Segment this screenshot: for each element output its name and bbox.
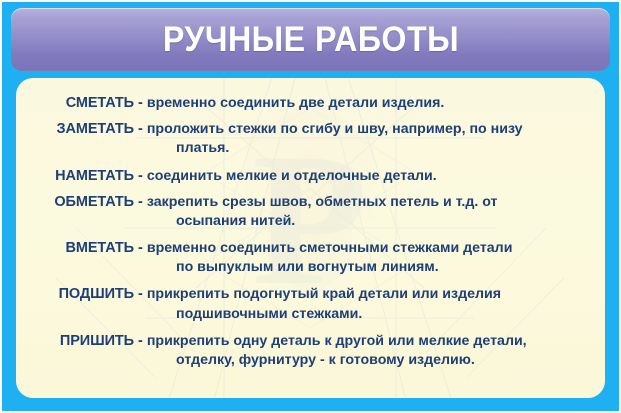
poster-root: РУЧНЫЕ РАБОТЫ Р — [0, 0, 621, 413]
entry-first-line: ЗАМЕТАТЬ-проложить стежки по сгибу и шву… — [16, 120, 589, 138]
separator-dash: - — [134, 333, 147, 349]
term-label: ВМЕТАТЬ — [16, 240, 134, 256]
entry-first-line: ПОДШИТЬ-прикрепить подогнутый край детал… — [16, 285, 589, 303]
definition-continuation: подшивочными стежками. — [176, 305, 589, 323]
entry-first-line: НАМЕТАТЬ-соединить мелкие и отделочные д… — [16, 167, 589, 185]
terms-list: СМЕТАТЬ-временно соединить две детали из… — [16, 78, 605, 369]
list-item: НАМЕТАТЬ-соединить мелкие и отделочные д… — [16, 167, 589, 185]
definition-text: временно соединить сметочными стежками д… — [147, 240, 513, 256]
entry-first-line: ПРИШИТЬ-прикрепить одну деталь к другой … — [16, 332, 589, 350]
list-item: СМЕТАТЬ-временно соединить две детали из… — [16, 94, 589, 112]
list-item: ОБМЕТАТЬ-закрепить срезы швов, обметных … — [16, 193, 589, 230]
term-label: ОБМЕТАТЬ — [16, 194, 134, 210]
term-label: ПОДШИТЬ — [16, 286, 134, 302]
term-label: ЗАМЕТАТЬ — [16, 121, 134, 137]
entry-first-line: ОБМЕТАТЬ-закрепить срезы швов, обметных … — [16, 193, 589, 211]
definition-text: проложить стежки по сгибу и шву, наприме… — [147, 121, 523, 137]
list-item: ПОДШИТЬ-прикрепить подогнутый край детал… — [16, 285, 589, 322]
list-item: ВМЕТАТЬ-временно соединить сметочными ст… — [16, 239, 589, 276]
definition-continuation: по выпуклым или вогнутым линиям. — [176, 258, 589, 276]
definition-continuation: платья. — [176, 139, 589, 157]
definition-text: прикрепить подогнутый край детали или из… — [147, 286, 501, 302]
term-label: СМЕТАТЬ — [16, 95, 134, 111]
header-bar: РУЧНЫЕ РАБОТЫ — [11, 8, 610, 71]
definition-text: прикрепить одну деталь к другой или мелк… — [147, 333, 527, 349]
definition-text: закрепить срезы швов, обметных петель и … — [147, 194, 498, 210]
definition-text: временно соединить две детали изделия. — [147, 95, 445, 111]
page-title: РУЧНЫЕ РАБОТЫ — [162, 22, 458, 57]
separator-dash: - — [134, 121, 147, 137]
entry-first-line: ВМЕТАТЬ-временно соединить сметочными ст… — [16, 239, 589, 257]
entry-first-line: СМЕТАТЬ-временно соединить две детали из… — [16, 94, 589, 112]
definition-continuation: осыпания нитей. — [176, 212, 589, 230]
separator-dash: - — [134, 194, 147, 210]
separator-dash: - — [134, 168, 147, 184]
content-panel: Р СМЕТАТЬ-временно соединить две детали … — [16, 78, 605, 398]
separator-dash: - — [134, 95, 147, 111]
list-item: ПРИШИТЬ-прикрепить одну деталь к другой … — [16, 332, 589, 369]
definition-text: соединить мелкие и отделочные детали. — [147, 168, 437, 184]
separator-dash: - — [134, 240, 147, 256]
term-label: НАМЕТАТЬ — [16, 168, 134, 184]
term-label: ПРИШИТЬ — [16, 333, 134, 349]
list-item: ЗАМЕТАТЬ-проложить стежки по сгибу и шву… — [16, 120, 589, 157]
definition-continuation: отделку, фурнитуру - к готовому изделию. — [176, 351, 589, 369]
separator-dash: - — [134, 286, 147, 302]
